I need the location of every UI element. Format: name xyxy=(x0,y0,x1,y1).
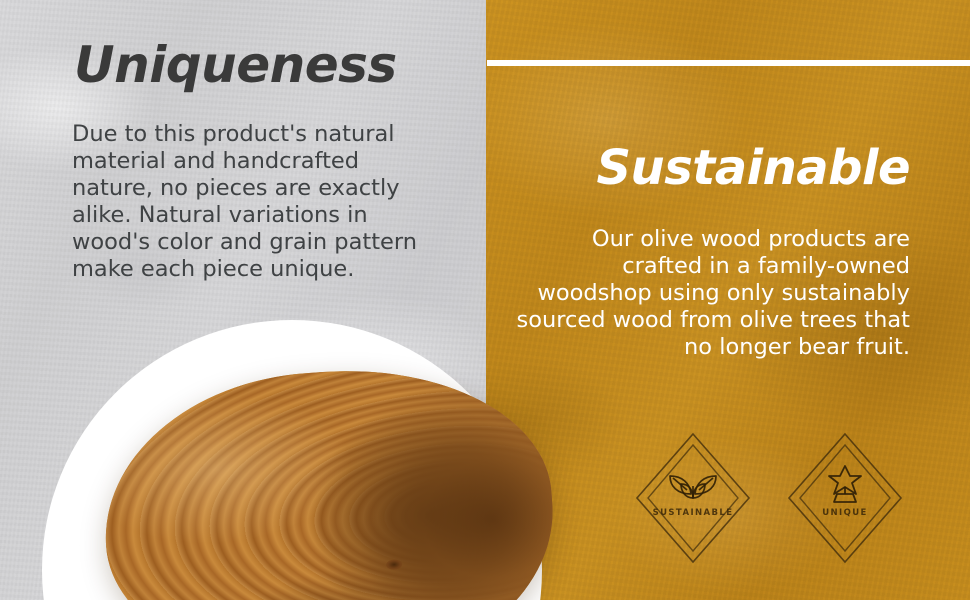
left-panel-content: Uniqueness Due to this product's natural… xyxy=(0,0,486,600)
star-trophy-icon xyxy=(813,464,877,504)
divider-rule xyxy=(487,60,970,66)
badge-sustainable: SUSTAINABLE xyxy=(631,428,755,568)
uniqueness-heading: Uniqueness xyxy=(74,36,397,94)
badge-unique-label: UNIQUE xyxy=(783,508,907,518)
leaves-icon xyxy=(661,464,725,504)
uniqueness-body-text: Due to this product's natural material a… xyxy=(72,121,417,283)
badge-unique: UNIQUE xyxy=(783,428,907,568)
product-feature-banner: Uniqueness Due to this product's natural… xyxy=(0,0,970,600)
badge-sustainable-label: SUSTAINABLE xyxy=(631,508,755,518)
badge-group: SUSTAINABLE UNIQUE xyxy=(486,0,970,600)
